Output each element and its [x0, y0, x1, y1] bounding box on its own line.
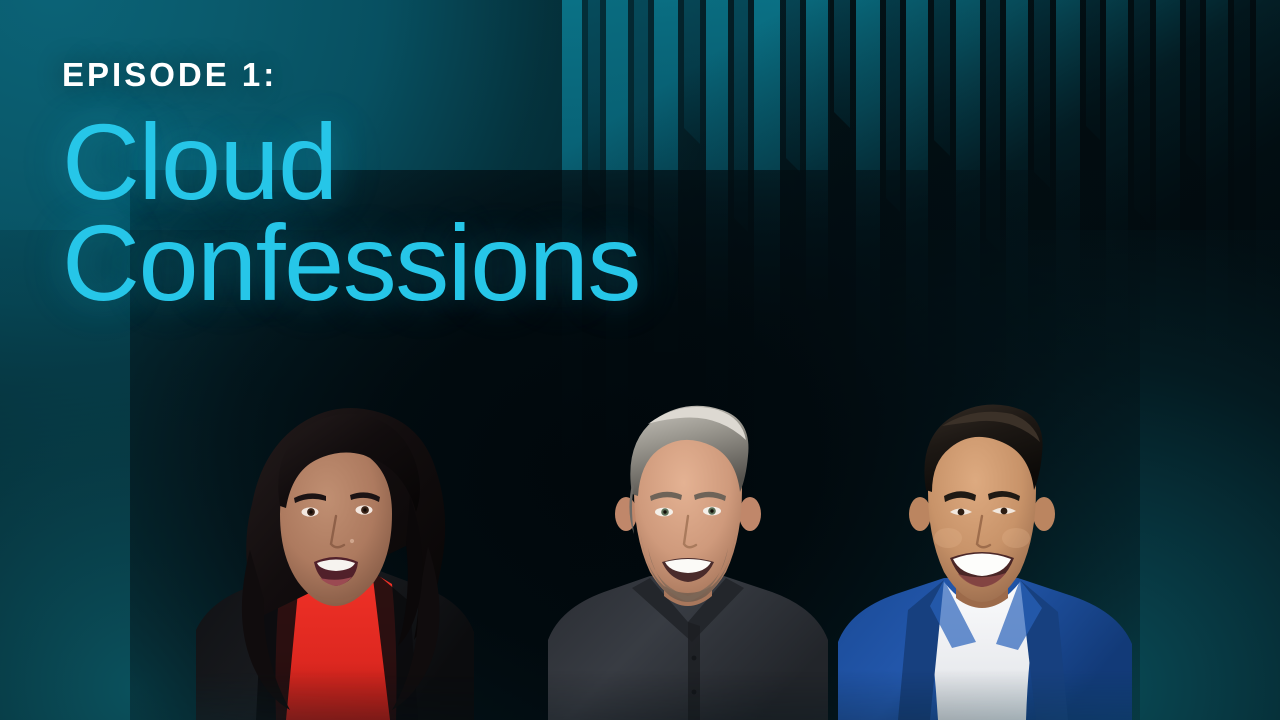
speaker-right-portrait: [838, 405, 1132, 720]
background-bar: [1034, 0, 1050, 188]
title-card: EPISODE 1: Cloud Confessions: [0, 0, 1280, 720]
episode-eyebrow: EPISODE 1:: [62, 58, 762, 91]
headline-block: EPISODE 1: Cloud Confessions: [62, 58, 762, 317]
title-line-1: Cloud: [62, 109, 762, 216]
speaker-portraits: [0, 300, 1280, 720]
page-title: Cloud Confessions: [62, 109, 762, 317]
speaker-center-portrait: [548, 406, 828, 720]
background-bar: [1234, 0, 1250, 268]
background-bar: [934, 0, 950, 156]
speaker-left-portrait: [196, 408, 474, 720]
background-bar: [1186, 0, 1200, 168]
background-bar: [834, 0, 850, 128]
background-bar: [786, 0, 800, 172]
background-bar: [1086, 0, 1100, 140]
